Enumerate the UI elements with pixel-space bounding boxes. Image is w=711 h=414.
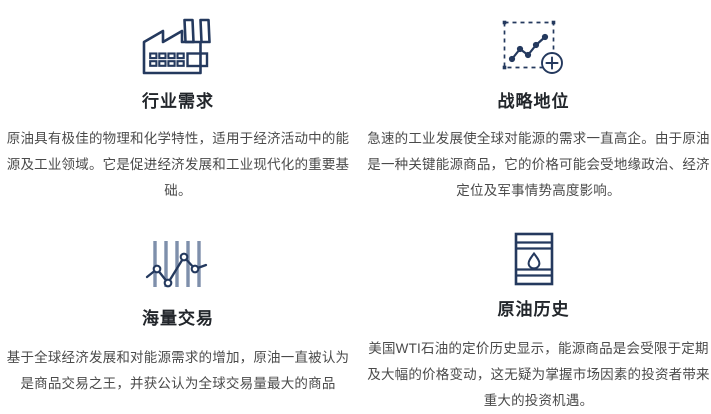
chart-add-icon-wrapper — [498, 8, 570, 86]
feature-card-huge-volume: 海量交易 基于全球经济发展和对能源需求的增加，原油一直被认为是商品交易之王，并获… — [0, 207, 356, 414]
feature-grid: 行业需求 原油具有极佳的物理和化学特性，适用于经济活动中的能源及工业领域。它是促… — [0, 0, 711, 414]
card-body: 美国WTI石油的定价历史显示，能源商品是会受限于定期及大幅的价格变动，这无疑为掌… — [365, 336, 711, 414]
volume-chart-icon-wrapper — [144, 229, 212, 299]
card-body: 急速的工业发展使全球对能源的需求一直高企。由于原油是一种关键能源商品，它的价格可… — [365, 126, 711, 204]
card-body: 基于全球经济发展和对能源需求的增加，原油一直被认为是商品交易之王，并获公认为全球… — [2, 345, 354, 397]
feature-card-industry-demand: 行业需求 原油具有极佳的物理和化学特性，适用于经济活动中的能源及工业领域。它是促… — [0, 0, 356, 207]
feature-card-strategic-position: 战略地位 急速的工业发展使全球对能源的需求一直高企。由于原油是一种关键能源商品，… — [356, 0, 711, 207]
chart-add-icon — [498, 16, 570, 78]
card-title: 海量交易 — [142, 309, 214, 329]
factory-icon-wrapper — [140, 8, 216, 86]
oil-barrel-icon — [510, 230, 558, 288]
factory-icon — [140, 15, 216, 79]
card-title: 原油历史 — [498, 300, 570, 320]
card-title: 行业需求 — [142, 92, 214, 112]
card-body: 原油具有极佳的物理和化学特性，适用于经济活动中的能源及工业领域。它是促进经济发展… — [2, 126, 354, 204]
oil-barrel-icon-wrapper — [510, 229, 558, 290]
card-title: 战略地位 — [498, 92, 570, 112]
feature-card-oil-history: 原油历史 美国WTI石油的定价历史显示，能源商品是会受限于定期及大幅的价格变动，… — [356, 207, 711, 414]
volume-chart-icon — [144, 235, 212, 293]
